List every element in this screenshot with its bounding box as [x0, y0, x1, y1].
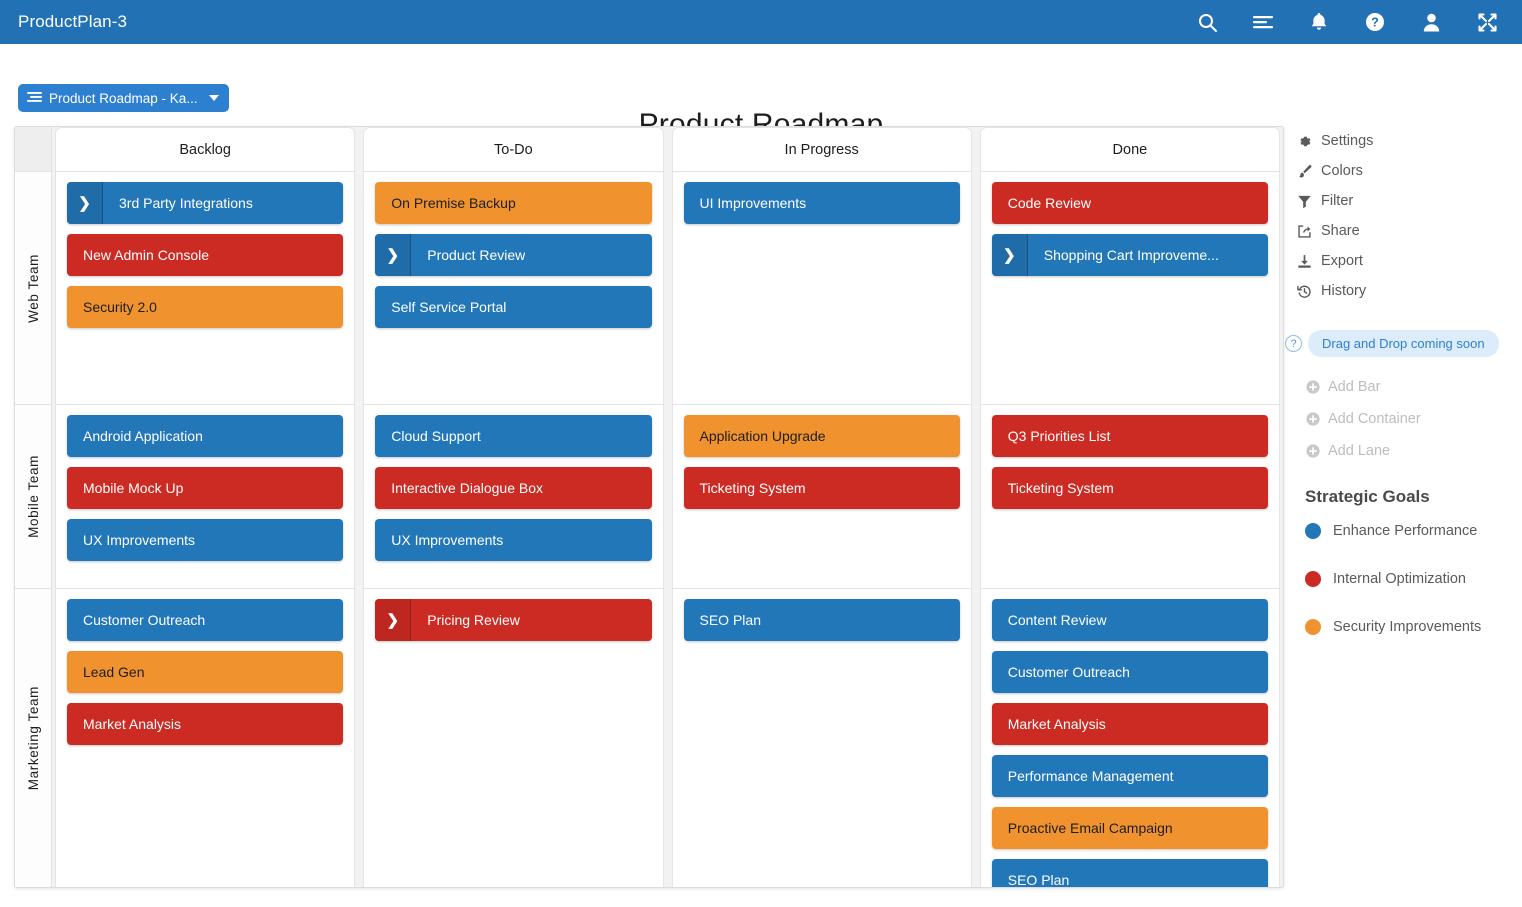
goal-label: Enhance Performance — [1333, 523, 1477, 539]
rail-corner-cell — [15, 127, 51, 172]
sidebar-item-label: History — [1321, 283, 1366, 299]
download-icon — [1296, 253, 1312, 269]
column-header[interactable]: To-Do — [364, 128, 662, 172]
add-action-label: Add Lane — [1328, 443, 1390, 459]
roadmap-board: Web Team Mobile Team Marketing Team Back… — [14, 126, 1284, 888]
card-label: New Admin Console — [83, 247, 209, 263]
app-title: ProductPlan-3 — [18, 12, 127, 32]
roadmap-bar-card[interactable]: Android Application — [67, 415, 343, 457]
card-label: UX Improvements — [83, 532, 195, 548]
lane-label-text: Mobile Team — [26, 455, 41, 538]
top-bar-icon-group: ? — [1196, 11, 1506, 33]
user-icon[interactable] — [1420, 11, 1442, 33]
roadmap-bar-card[interactable]: Proactive Email Campaign — [992, 807, 1268, 849]
card-label: Pricing Review — [411, 612, 520, 628]
roadmap-bar-card[interactable]: UI Improvements — [684, 182, 960, 224]
share-icon — [1296, 223, 1312, 239]
lane-label-text: Web Team — [26, 254, 41, 323]
roadmap-bar-card[interactable]: UX Improvements — [375, 519, 651, 561]
roadmap-bar-card[interactable]: Interactive Dialogue Box — [375, 467, 651, 509]
board-column-to-do: To-DoOn Premise Backup❯Product ReviewSel… — [363, 127, 663, 887]
goal-label: Security Improvements — [1333, 619, 1481, 635]
gear-icon — [1296, 133, 1312, 149]
card-label: Customer Outreach — [83, 612, 205, 628]
lane-cell: Customer OutreachLead GenMarket Analysis — [56, 589, 354, 887]
roadmap-bar-card[interactable]: Customer Outreach — [992, 651, 1268, 693]
chevron-right-icon[interactable]: ❯ — [375, 234, 411, 276]
roadmap-bar-card[interactable]: Security 2.0 — [67, 286, 343, 328]
card-label: Product Review — [411, 247, 525, 263]
card-label: UI Improvements — [700, 195, 807, 211]
add-lane-button: Add Lane — [1305, 435, 1511, 467]
strategic-goal-item[interactable]: Enhance Performance — [1305, 507, 1511, 555]
svg-text:?: ? — [1371, 16, 1379, 30]
sidebar-item-export[interactable]: Export — [1296, 246, 1511, 276]
roadmap-bar-card[interactable]: Q3 Priorities List — [992, 415, 1268, 457]
sidebar-item-label: Filter — [1321, 193, 1353, 209]
funnel-icon — [1296, 193, 1312, 209]
roadmap-bar-card[interactable]: On Premise Backup — [375, 182, 651, 224]
view-selector-label: Product Roadmap - Ka... — [49, 91, 198, 106]
add-actions-group: Add Bar Add Container Add Lane — [1296, 371, 1511, 467]
card-label: UX Improvements — [391, 532, 503, 548]
roadmap-container-card[interactable]: ❯Pricing Review — [375, 599, 651, 641]
sidebar-item-label: Export — [1321, 253, 1363, 269]
lane-label-marketing-team[interactable]: Marketing Team — [15, 589, 51, 887]
roadmap-bar-card[interactable]: Code Review — [992, 182, 1268, 224]
plus-circle-icon — [1305, 444, 1320, 459]
card-label: Market Analysis — [1008, 716, 1106, 732]
roadmap-bar-card[interactable]: Market Analysis — [992, 703, 1268, 745]
lane-cell: Android ApplicationMobile Mock UpUX Impr… — [56, 405, 354, 589]
card-label: SEO Plan — [1008, 872, 1069, 887]
lane-cell: Content ReviewCustomer OutreachMarket An… — [981, 589, 1279, 887]
card-label: Application Upgrade — [700, 428, 826, 444]
lane-cell: UI Improvements — [673, 172, 971, 405]
lane-label-web-team[interactable]: Web Team — [15, 172, 51, 405]
plus-circle-icon — [1305, 412, 1320, 427]
plus-circle-icon — [1305, 380, 1320, 395]
right-sidebar: Settings Colors Filter — [1296, 126, 1511, 651]
sidebar-item-label: Settings — [1321, 133, 1373, 149]
lane-cell: ❯Pricing Review — [364, 589, 662, 887]
add-bar-button: Add Bar — [1305, 371, 1511, 403]
drag-drop-notice-label: Drag and Drop coming soon — [1308, 330, 1499, 357]
strategic-goals-legend: Enhance PerformanceInternal Optimization… — [1296, 507, 1511, 651]
roadmap-bar-card[interactable]: SEO Plan — [992, 859, 1268, 887]
card-label: Code Review — [1008, 195, 1091, 211]
lane-cell: Code Review❯Shopping Cart Improveme... — [981, 172, 1279, 405]
sidebar-item-label: Colors — [1321, 163, 1363, 179]
strategic-goal-item[interactable]: Internal Optimization — [1305, 555, 1511, 603]
card-label: SEO Plan — [700, 612, 761, 628]
question-mark-icon[interactable]: ? — [1285, 335, 1302, 352]
roadmap-bar-card[interactable]: Cloud Support — [375, 415, 651, 457]
card-label: Ticketing System — [1008, 480, 1114, 496]
board-column-in-progress: In ProgressUI ImprovementsApplication Up… — [672, 127, 972, 887]
card-label: Customer Outreach — [1008, 664, 1130, 680]
goal-label: Internal Optimization — [1333, 571, 1466, 587]
lane-label-text: Marketing Team — [26, 686, 41, 790]
strategic-goals-title: Strategic Goals — [1305, 487, 1511, 507]
card-label: Lead Gen — [83, 664, 145, 680]
goal-color-dot — [1305, 571, 1321, 587]
card-label: Android Application — [83, 428, 203, 444]
brush-icon — [1296, 163, 1312, 179]
card-label: Self Service Portal — [391, 299, 506, 315]
add-container-button: Add Container — [1305, 403, 1511, 435]
lane-cell: Cloud SupportInteractive Dialogue BoxUX … — [364, 405, 662, 589]
roadmap-container-card[interactable]: ❯Product Review — [375, 234, 651, 276]
board-column-backlog: Backlog❯3rd Party IntegrationsNew Admin … — [55, 127, 355, 887]
roadmap-bar-card[interactable]: Customer Outreach — [67, 599, 343, 641]
help-icon[interactable]: ? — [1364, 11, 1386, 33]
top-app-bar: ProductPlan-3 ? — [0, 0, 1522, 44]
card-label: Mobile Mock Up — [83, 480, 183, 496]
card-label: Q3 Priorities List — [1008, 428, 1111, 444]
card-label: Interactive Dialogue Box — [391, 480, 543, 496]
column-header[interactable]: In Progress — [673, 128, 971, 172]
roadmap-bar-card[interactable]: Content Review — [992, 599, 1268, 641]
sidebar-item-history[interactable]: History — [1296, 276, 1511, 306]
roadmap-container-card[interactable]: ❯Shopping Cart Improveme... — [992, 234, 1268, 276]
roadmap-bar-card[interactable]: UX Improvements — [67, 519, 343, 561]
lane-cell: On Premise Backup❯Product ReviewSelf Ser… — [364, 172, 662, 405]
add-action-label: Add Container — [1328, 411, 1421, 427]
card-label: Security 2.0 — [83, 299, 157, 315]
card-label: Ticketing System — [700, 480, 806, 496]
sidebar-menu: Settings Colors Filter — [1296, 126, 1511, 306]
roadmap-bar-card[interactable]: Performance Management — [992, 755, 1268, 797]
card-label: 3rd Party Integrations — [103, 195, 253, 211]
lane-cell: Q3 Priorities ListTicketing System — [981, 405, 1279, 589]
lane-cell: Application UpgradeTicketing System — [673, 405, 971, 589]
card-label: Performance Management — [1008, 768, 1174, 784]
expand-icon[interactable] — [1476, 11, 1498, 33]
chevron-down-icon — [209, 95, 219, 101]
card-label: Content Review — [1008, 612, 1107, 628]
lane-label-rail: Web Team Mobile Team Marketing Team — [15, 127, 52, 887]
sidebar-item-colors[interactable]: Colors — [1296, 156, 1511, 186]
card-label: Shopping Cart Improveme... — [1028, 247, 1219, 263]
history-icon — [1296, 283, 1312, 299]
roadmap-bar-card[interactable]: New Admin Console — [67, 234, 343, 276]
board-columns: Backlog❯3rd Party IntegrationsNew Admin … — [52, 127, 1283, 887]
roadmap-bar-card[interactable]: Ticketing System — [992, 467, 1268, 509]
board-column-done: DoneCode Review❯Shopping Cart Improveme.… — [980, 127, 1280, 887]
roadmap-container-card[interactable]: ❯3rd Party Integrations — [67, 182, 343, 224]
strategic-goal-item[interactable]: Security Improvements — [1305, 603, 1511, 651]
roadmap-bar-card[interactable]: Market Analysis — [67, 703, 343, 745]
column-header[interactable]: Done — [981, 128, 1279, 172]
search-icon[interactable] — [1196, 11, 1218, 33]
add-action-label: Add Bar — [1328, 379, 1380, 395]
lane-label-mobile-team[interactable]: Mobile Team — [15, 405, 51, 589]
chevron-right-icon[interactable]: ❯ — [992, 234, 1028, 276]
goal-color-dot — [1305, 619, 1321, 635]
card-label: On Premise Backup — [391, 195, 516, 211]
roadmap-bar-card[interactable]: Ticketing System — [684, 467, 960, 509]
card-label: Cloud Support — [391, 428, 481, 444]
view-selector-button[interactable]: Product Roadmap - Ka... — [18, 84, 229, 112]
column-header[interactable]: Backlog — [56, 128, 354, 172]
goal-color-dot — [1305, 523, 1321, 539]
chevron-right-icon[interactable]: ❯ — [67, 182, 103, 224]
chevron-right-icon[interactable]: ❯ — [375, 599, 411, 641]
lane-cell: SEO Plan — [673, 589, 971, 887]
roadmap-bar-card[interactable]: Mobile Mock Up — [67, 467, 343, 509]
list-menu-icon[interactable] — [1252, 11, 1274, 33]
card-label: Market Analysis — [83, 716, 181, 732]
sidebar-item-label: Share — [1321, 223, 1360, 239]
sidebar-item-share[interactable]: Share — [1296, 216, 1511, 246]
roadmap-bar-card[interactable]: Lead Gen — [67, 651, 343, 693]
lane-cell: ❯3rd Party IntegrationsNew Admin Console… — [56, 172, 354, 405]
roadmap-bar-card[interactable]: Application Upgrade — [684, 415, 960, 457]
roadmap-bar-card[interactable]: SEO Plan — [684, 599, 960, 641]
card-label: Proactive Email Campaign — [1008, 820, 1173, 836]
sidebar-item-filter[interactable]: Filter — [1296, 186, 1511, 216]
drag-drop-notice: ? Drag and Drop coming soon — [1285, 330, 1511, 357]
roadmap-bar-card[interactable]: Self Service Portal — [375, 286, 651, 328]
bell-icon[interactable] — [1308, 11, 1330, 33]
sidebar-item-settings[interactable]: Settings — [1296, 126, 1511, 156]
list-view-icon — [27, 91, 42, 106]
